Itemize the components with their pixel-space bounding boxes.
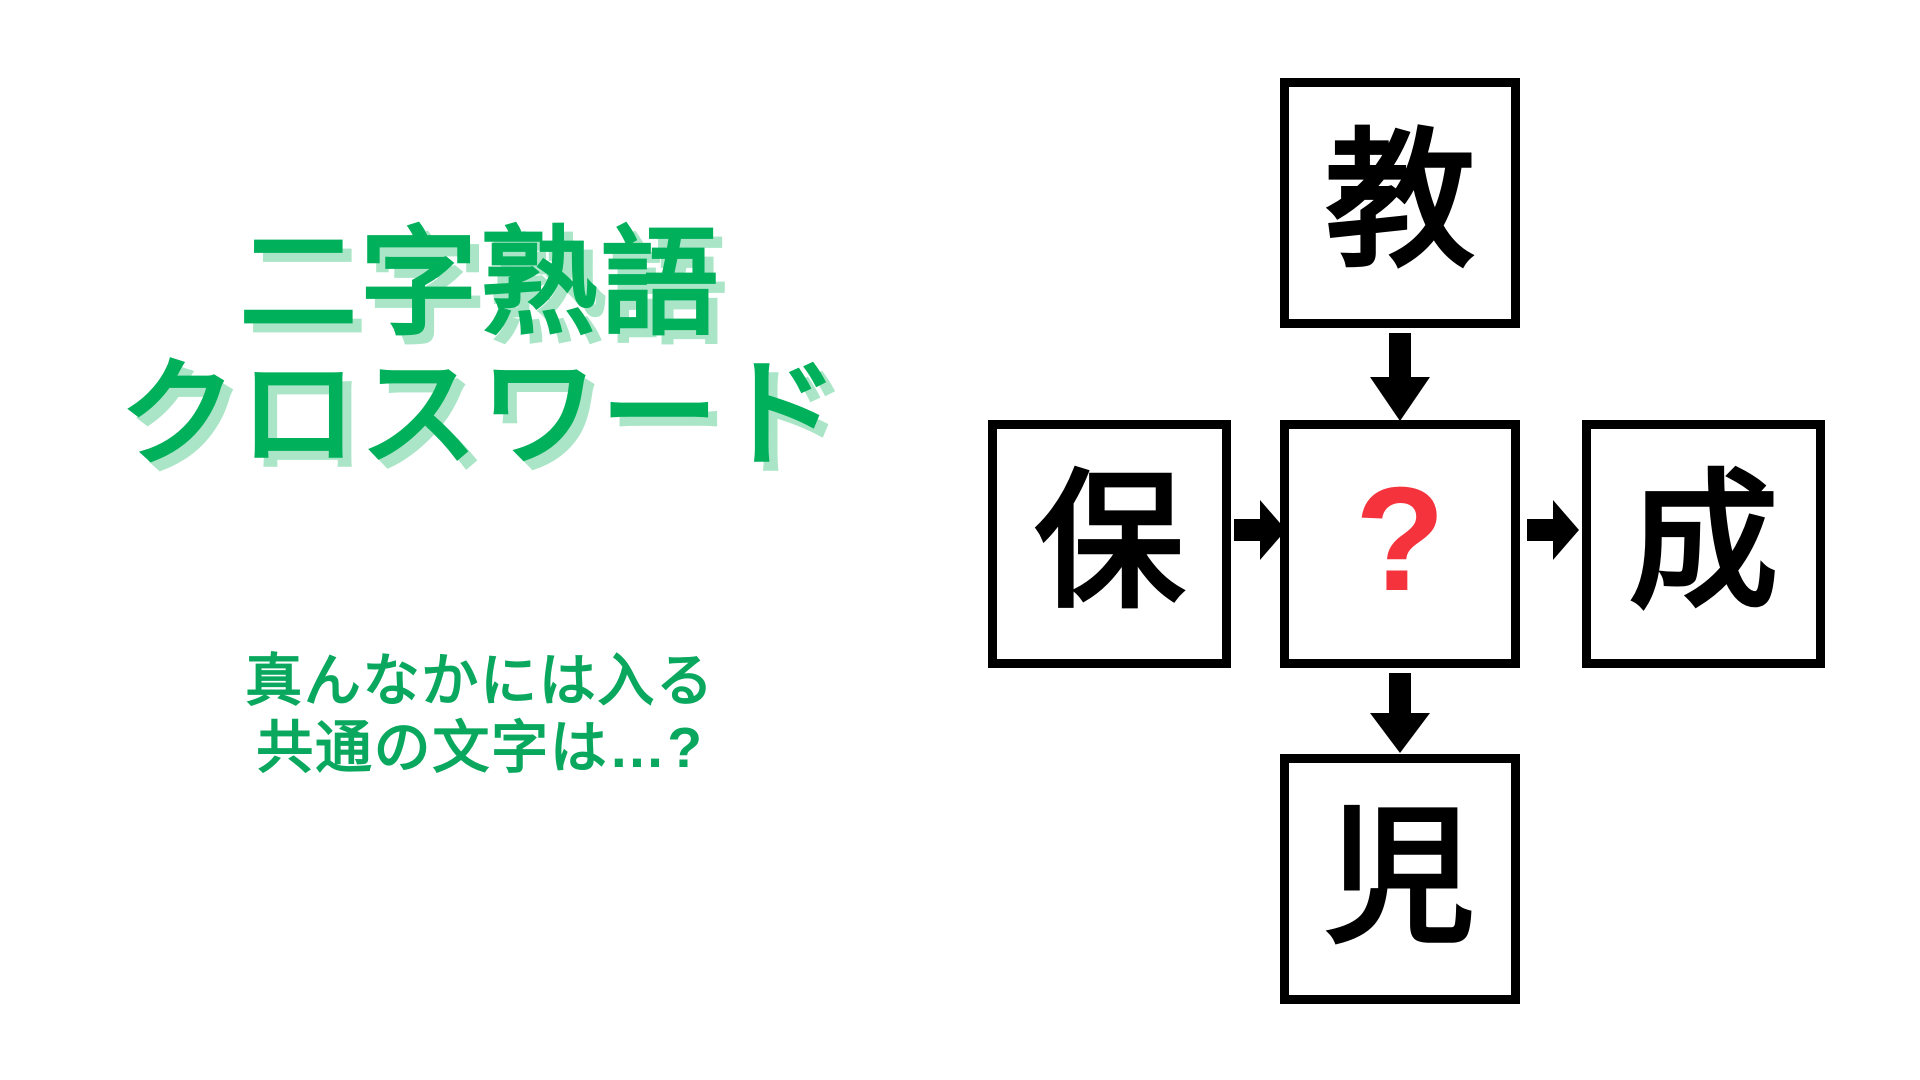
subtitle-line-2: 共通の文字は…? bbox=[0, 715, 960, 782]
cell-left: 保 bbox=[988, 420, 1231, 668]
poster-canvas: 二字熟語 クロスワード 真んなかには入る 共通の文字は…? 教 保 bbox=[0, 0, 1920, 1080]
subtitle-line-1: 真んなかには入る bbox=[0, 648, 960, 715]
cell-center-char: ? bbox=[1355, 466, 1445, 614]
arrow-right-icon-center-to-right bbox=[1527, 500, 1579, 560]
arrow-down-icon-center-to-bottom bbox=[1370, 673, 1430, 753]
title-line-1: 二字熟語 bbox=[0, 222, 960, 347]
subtitle-block: 真んなかには入る 共通の文字は…? bbox=[0, 648, 960, 781]
arrow-down-icon-top-to-center bbox=[1370, 333, 1430, 421]
cell-left-char: 保 bbox=[1034, 467, 1184, 617]
cell-bottom: 児 bbox=[1280, 754, 1520, 1004]
cell-top-char: 教 bbox=[1325, 126, 1475, 276]
cell-center-answer[interactable]: ? bbox=[1280, 420, 1520, 668]
cell-right-char: 成 bbox=[1628, 467, 1778, 617]
crossword-diagram: 教 保 ? 成 bbox=[960, 0, 1920, 1080]
cell-top: 教 bbox=[1280, 78, 1520, 328]
cell-right: 成 bbox=[1582, 420, 1825, 668]
cell-bottom-char: 児 bbox=[1325, 802, 1475, 952]
arrow-right-icon-left-to-center bbox=[1234, 500, 1286, 560]
title-block: 二字熟語 クロスワード bbox=[0, 222, 960, 478]
title-line-2: クロスワード bbox=[0, 353, 960, 478]
